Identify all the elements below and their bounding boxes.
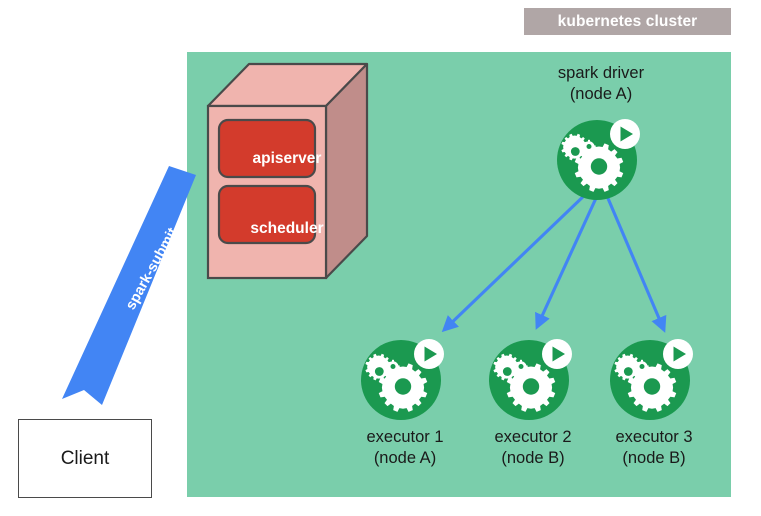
executor-2-node[interactable] xyxy=(487,330,579,422)
executor-2-play-icon xyxy=(542,339,572,369)
spark-driver-node[interactable] xyxy=(555,110,647,202)
scheduler-label: scheduler xyxy=(232,220,342,238)
executor-3-label: executor 3 (node B) xyxy=(574,427,734,469)
executor-1-node[interactable] xyxy=(359,330,451,422)
spark-driver-label-line1: spark driver xyxy=(521,63,681,84)
client-box[interactable]: Client xyxy=(18,419,152,498)
spark-submit-ribbon-shape xyxy=(62,166,196,405)
spark-submit-arrow xyxy=(58,162,208,412)
executor-3-label-line1: executor 3 xyxy=(574,427,734,448)
cluster-title-text: kubernetes cluster xyxy=(558,13,698,31)
driver-play-icon xyxy=(610,119,640,149)
spark-driver-label: spark driver (node A) xyxy=(521,63,681,105)
executor-3-play-icon xyxy=(663,339,693,369)
client-label: Client xyxy=(61,448,110,470)
cluster-title-bar: kubernetes cluster xyxy=(524,8,731,35)
spark-driver-label-line2: (node A) xyxy=(521,84,681,105)
diagram-canvas: kubernetes cluster apiserver scheduler s… xyxy=(0,0,761,516)
apiserver-label: apiserver xyxy=(232,150,342,168)
apiserver-box[interactable] xyxy=(219,120,315,177)
executor-1-play-icon xyxy=(414,339,444,369)
executor-3-node[interactable] xyxy=(608,330,700,422)
executor-3-label-line2: (node B) xyxy=(574,448,734,469)
control-plane-cube xyxy=(205,60,370,285)
